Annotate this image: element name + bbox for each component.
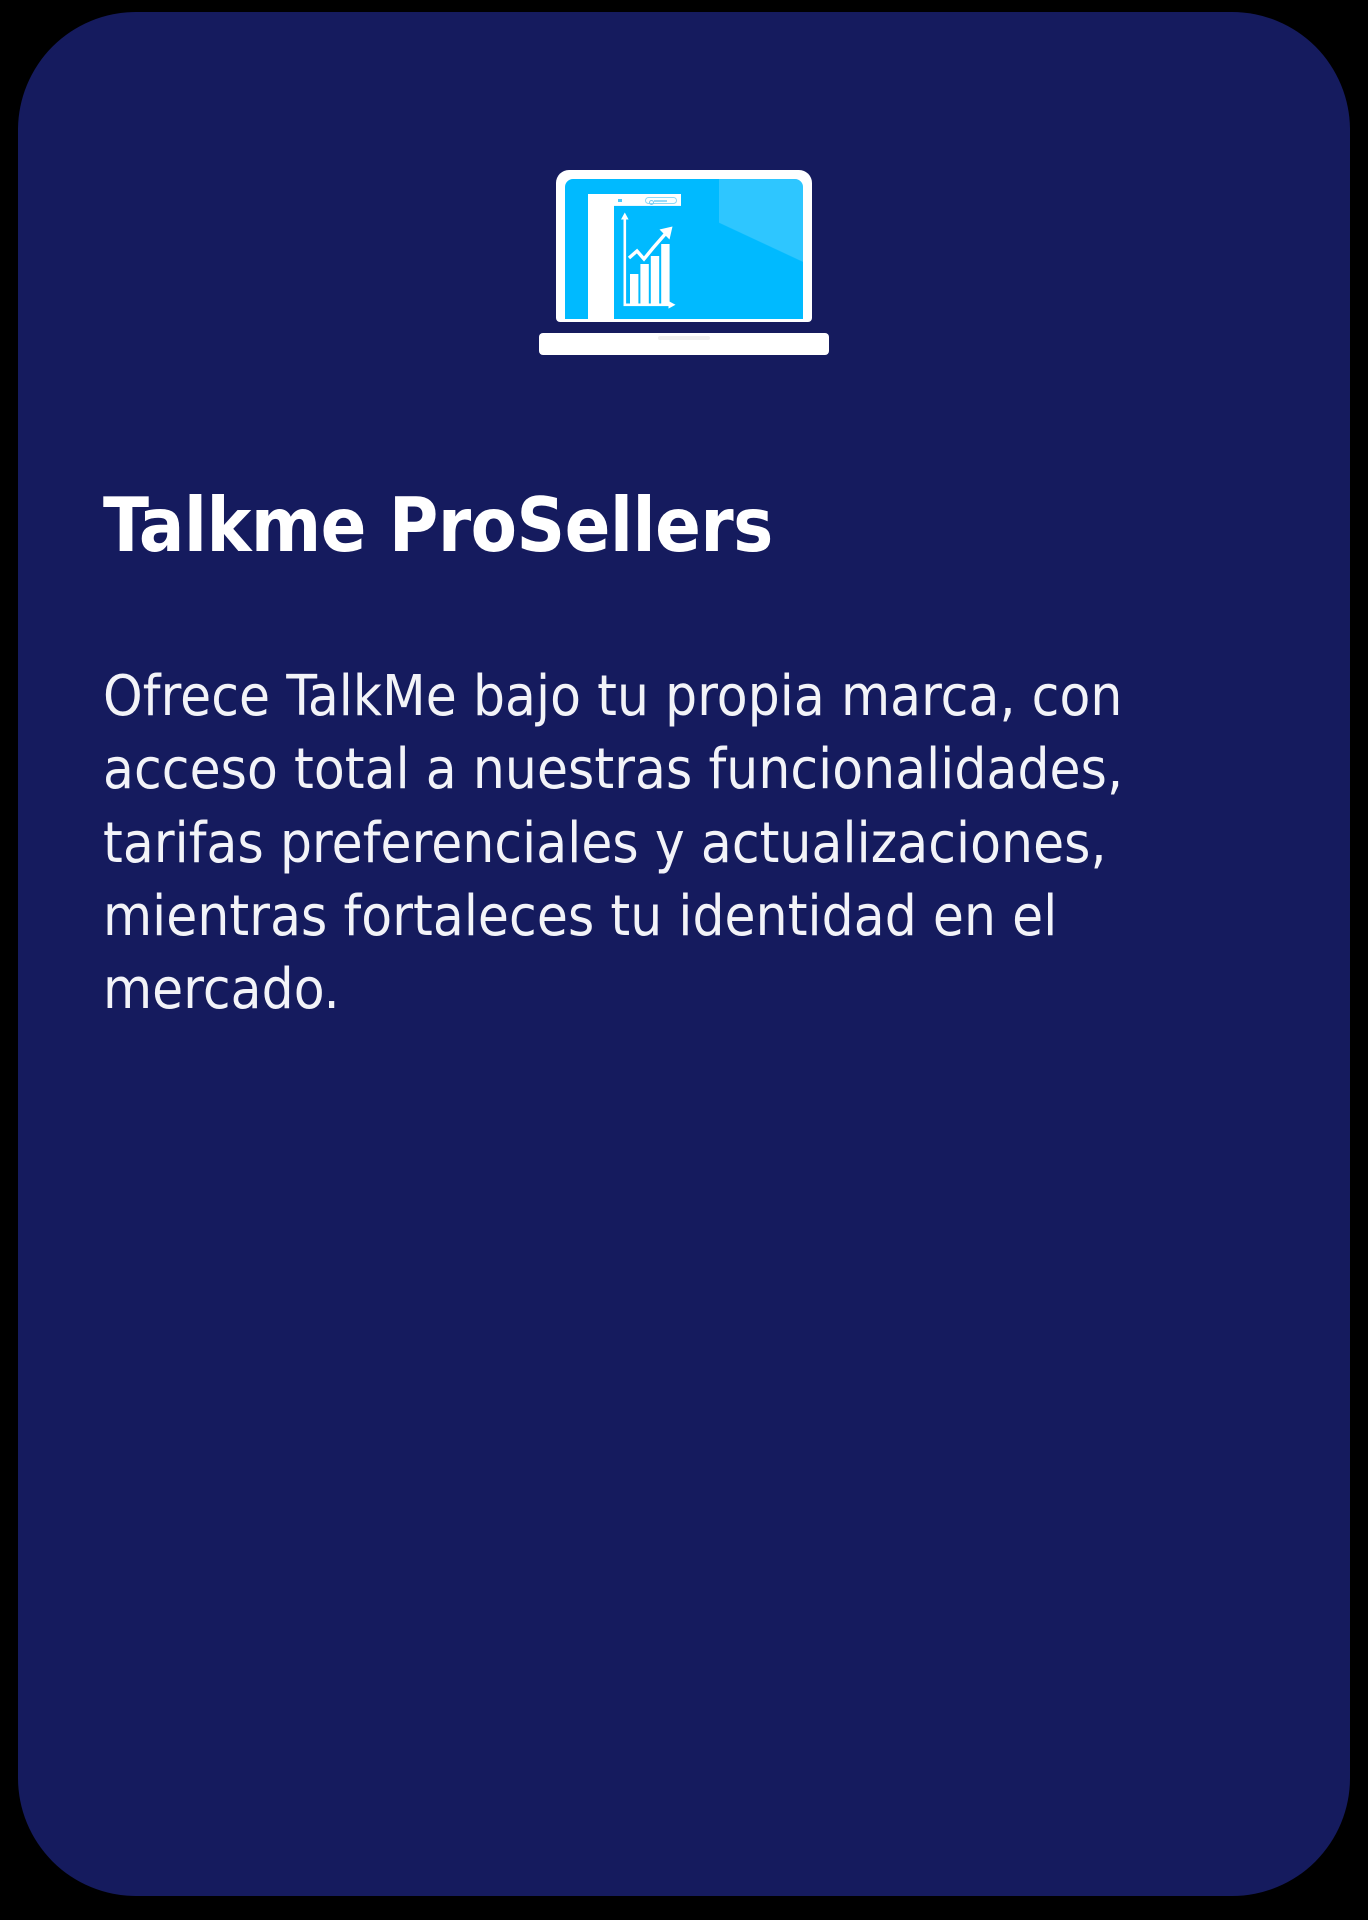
dashboard-chart-area bbox=[614, 206, 681, 319]
bar-chart-with-trend-arrow-icon bbox=[614, 206, 681, 319]
card-description: Ofrece TalkMe bajo tu propia marca, con … bbox=[103, 660, 1173, 1027]
feature-card[interactable]: Talkme ProSellers Ofrece TalkMe bajo tu … bbox=[18, 12, 1350, 1896]
dashboard-titlebar bbox=[614, 194, 681, 206]
laptop-screen bbox=[565, 179, 803, 319]
laptop-analytics-dashboard-icon bbox=[539, 170, 829, 355]
search-pill-icon bbox=[645, 197, 677, 204]
laptop-notch bbox=[658, 336, 710, 340]
window-dot-icon bbox=[618, 199, 622, 203]
page-stage: Talkme ProSellers Ofrece TalkMe bajo tu … bbox=[0, 0, 1368, 1920]
laptop-lid bbox=[556, 170, 812, 322]
dashboard-window bbox=[614, 194, 681, 319]
card-title: Talkme ProSellers bbox=[103, 486, 1223, 565]
screen-sheen bbox=[719, 179, 803, 319]
card-icon-container bbox=[18, 170, 1350, 370]
